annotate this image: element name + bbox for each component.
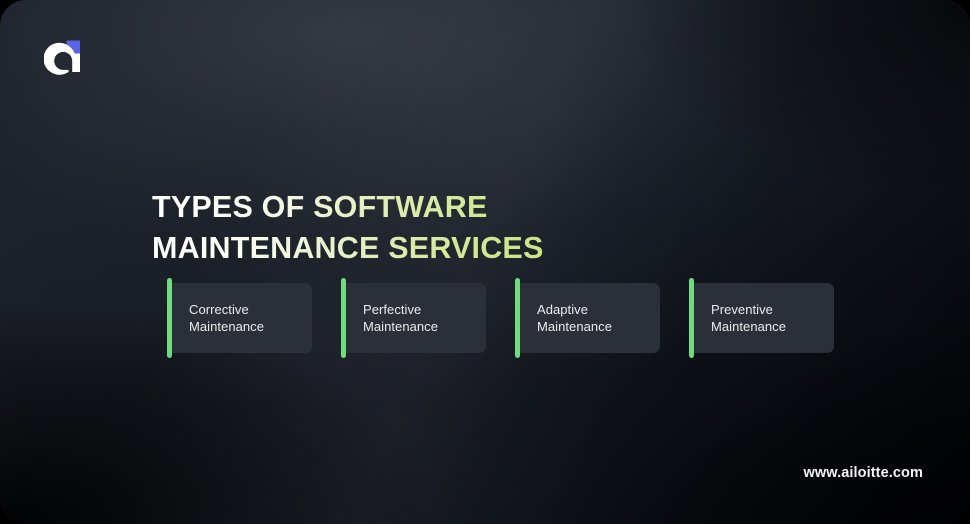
ailoitte-logo-icon — [44, 36, 84, 76]
card-preventive-maintenance[interactable]: Preventive Maintenance — [689, 283, 834, 353]
card-corrective-maintenance[interactable]: Corrective Maintenance — [167, 283, 312, 353]
slide-canvas: Types of Software Maintenance Services C… — [0, 0, 970, 524]
card-accent-bar — [167, 278, 172, 358]
card-label: Preventive Maintenance — [711, 301, 786, 336]
card-label: Adaptive Maintenance — [537, 301, 612, 336]
card-accent-bar — [689, 278, 694, 358]
page-title: Types of Software Maintenance Services — [152, 187, 772, 269]
card-label: Corrective Maintenance — [189, 301, 264, 336]
site-url[interactable]: www.ailoitte.com — [804, 465, 924, 481]
card-accent-bar — [515, 278, 520, 358]
card-accent-bar — [341, 278, 346, 358]
card-perfective-maintenance[interactable]: Perfective Maintenance — [341, 283, 486, 353]
maintenance-types-list: Corrective Maintenance Perfective Mainte… — [167, 283, 834, 353]
card-adaptive-maintenance[interactable]: Adaptive Maintenance — [515, 283, 660, 353]
card-label: Perfective Maintenance — [363, 301, 438, 336]
